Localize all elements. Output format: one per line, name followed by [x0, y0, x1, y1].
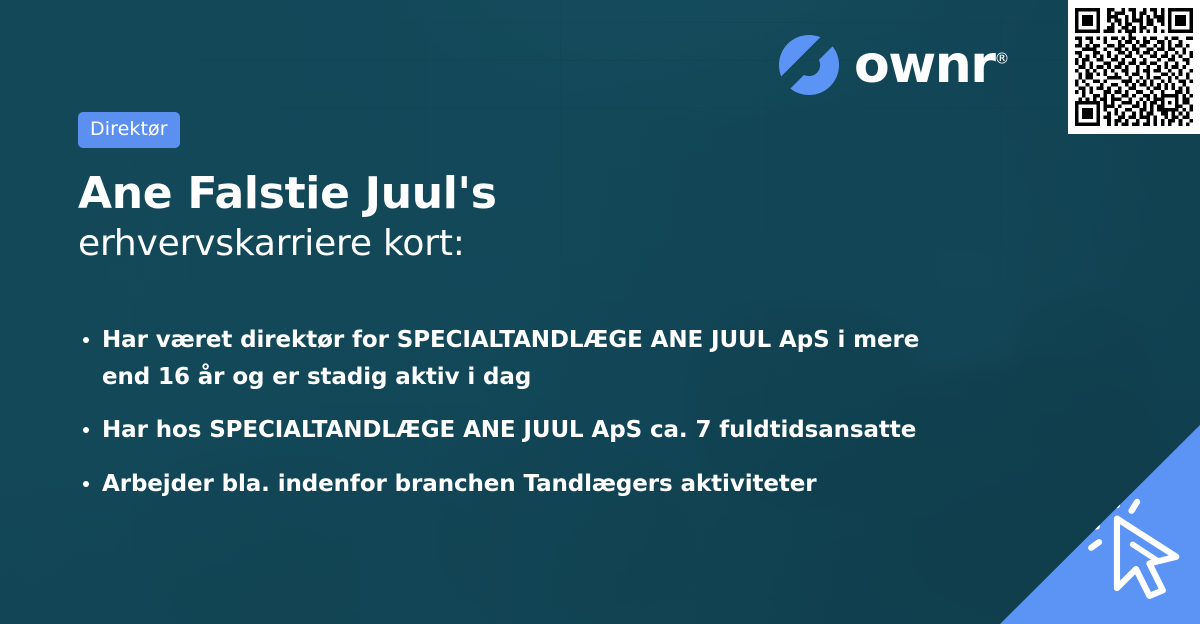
qr-code-panel[interactable]: [1068, 0, 1200, 134]
role-badge: Direktør: [78, 112, 180, 148]
registered-trademark-icon: ®: [994, 50, 1009, 68]
brand-name: ownr: [854, 35, 994, 95]
career-facts-list: Har været direktør for SPECIALTANDLÆGE A…: [78, 322, 978, 503]
ownr-logo[interactable]: ownr®: [778, 34, 1009, 96]
content-block: Direktør Ane Falstie Juul's erhvervskarr…: [78, 112, 978, 503]
page-subtitle: erhvervskarriere kort:: [78, 224, 978, 264]
ownr-wordmark: ownr®: [854, 39, 1009, 91]
list-item: Har været direktør for SPECIALTANDLÆGE A…: [78, 322, 938, 397]
qr-code[interactable]: [1075, 8, 1193, 126]
business-card-banner: ownr®: [0, 0, 1200, 624]
list-item: Har hos SPECIALTANDLÆGE ANE JUUL ApS ca.…: [78, 412, 938, 449]
page-title: Ane Falstie Juul's: [78, 170, 978, 218]
list-item: Arbejder bla. indenfor branchen Tandlæge…: [78, 466, 938, 503]
ownr-circular-swirl-logo: [778, 34, 840, 96]
